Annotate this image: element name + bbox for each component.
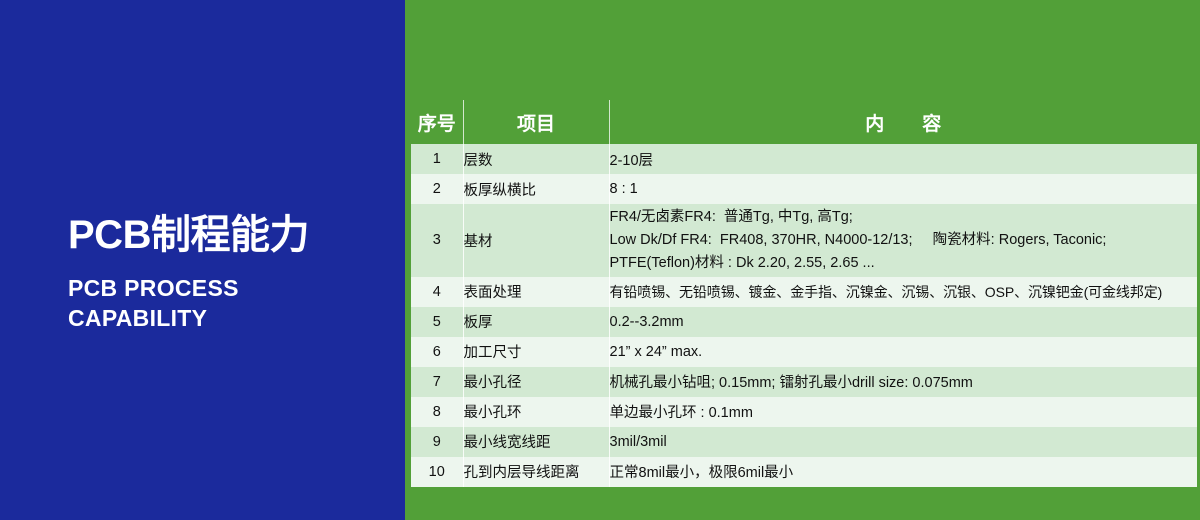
table-header-row: 序号 项目 内 容 (411, 100, 1197, 144)
table-row: 10 孔到内层导线距离 正常8mil最小，极限6mil最小 (411, 457, 1197, 487)
cell-content: 单边最小孔环 : 0.1mm (609, 397, 1197, 427)
cell-content: 0.2--3.2mm (609, 307, 1197, 337)
cell-content-line-1: FR4/无卤素FR4: 普通Tg, 中Tg, 高Tg; (610, 206, 1198, 229)
cell-no: 2 (411, 174, 463, 204)
table-row: 7 最小孔径 机械孔最小钻咀; 0.15mm; 镭射孔最小drill size:… (411, 367, 1197, 397)
page-subtitle-line-1: PCB PROCESS (68, 274, 398, 303)
cell-content: 2-10层 (609, 144, 1197, 174)
cell-no: 7 (411, 367, 463, 397)
page-subtitle-line-2: CAPABILITY (68, 304, 398, 333)
table-row: 4 表面处理 有铅喷锡、无铅喷锡、镀金、金手指、沉镍金、沉锡、沉银、OSP、沉镍… (411, 277, 1197, 307)
cell-no: 9 (411, 427, 463, 457)
cell-content: 21” x 24” max. (609, 337, 1197, 367)
cell-item: 层数 (463, 144, 609, 174)
cell-content: 3mil/3mil (609, 427, 1197, 457)
table-body: 1 层数 2-10层 2 板厚纵横比 8 : 1 3 基材 FR4/无卤素FR4… (411, 144, 1197, 487)
cell-item: 基材 (463, 204, 609, 277)
cell-item: 最小线宽线距 (463, 427, 609, 457)
page-title: PCB制程能力 (68, 214, 398, 257)
cell-content: 机械孔最小钻咀; 0.15mm; 镭射孔最小drill size: 0.075m… (609, 367, 1197, 397)
cell-no: 4 (411, 277, 463, 307)
title-block: PCB制程能力 PCB PROCESS CAPABILITY (68, 214, 398, 333)
table-row: 3 基材 FR4/无卤素FR4: 普通Tg, 中Tg, 高Tg; Low Dk/… (411, 204, 1197, 277)
cell-no: 3 (411, 204, 463, 277)
cell-item: 最小孔环 (463, 397, 609, 427)
column-header-no: 序号 (411, 100, 463, 144)
cell-content-line-3: PTFE(Teflon)材料 : Dk 2.20, 2.55, 2.65 ... (610, 252, 1198, 275)
cell-no: 8 (411, 397, 463, 427)
spec-table-container: 序号 项目 内 容 1 层数 2-10层 2 板厚纵横比 8 : 1 3 (411, 100, 1197, 487)
table-row: 2 板厚纵横比 8 : 1 (411, 174, 1197, 204)
cell-item: 板厚纵横比 (463, 174, 609, 204)
cell-item: 加工尺寸 (463, 337, 609, 367)
page-subtitle: PCB PROCESS CAPABILITY (68, 274, 398, 333)
column-header-item: 项目 (463, 100, 609, 144)
cell-no: 1 (411, 144, 463, 174)
left-blue-panel: PCB制程能力 PCB PROCESS CAPABILITY (0, 0, 405, 520)
cell-content: 正常8mil最小，极限6mil最小 (609, 457, 1197, 487)
cell-content: 8 : 1 (609, 174, 1197, 204)
table-row: 9 最小线宽线距 3mil/3mil (411, 427, 1197, 457)
table-row: 6 加工尺寸 21” x 24” max. (411, 337, 1197, 367)
table-row: 1 层数 2-10层 (411, 144, 1197, 174)
cell-content: FR4/无卤素FR4: 普通Tg, 中Tg, 高Tg; Low Dk/Df FR… (609, 204, 1197, 277)
cell-content-line-2: Low Dk/Df FR4: FR408, 370HR, N4000-12/13… (610, 229, 1198, 252)
cell-item: 表面处理 (463, 277, 609, 307)
cell-content: 有铅喷锡、无铅喷锡、镀金、金手指、沉镍金、沉锡、沉银、OSP、沉镍钯金(可金线邦… (609, 277, 1197, 307)
cell-no: 10 (411, 457, 463, 487)
table-header: 序号 项目 内 容 (411, 100, 1197, 144)
cell-content-lines: FR4/无卤素FR4: 普通Tg, 中Tg, 高Tg; Low Dk/Df FR… (610, 206, 1198, 275)
cell-no: 5 (411, 307, 463, 337)
cell-item: 板厚 (463, 307, 609, 337)
cell-item: 最小孔径 (463, 367, 609, 397)
table-row: 8 最小孔环 单边最小孔环 : 0.1mm (411, 397, 1197, 427)
pcb-capability-table: 序号 项目 内 容 1 层数 2-10层 2 板厚纵横比 8 : 1 3 (411, 100, 1197, 487)
slide-canvas: PCB制程能力 PCB PROCESS CAPABILITY 序号 项目 内 容 (0, 0, 1200, 520)
cell-item: 孔到内层导线距离 (463, 457, 609, 487)
column-header-content: 内 容 (609, 100, 1197, 144)
table-row: 5 板厚 0.2--3.2mm (411, 307, 1197, 337)
cell-no: 6 (411, 337, 463, 367)
